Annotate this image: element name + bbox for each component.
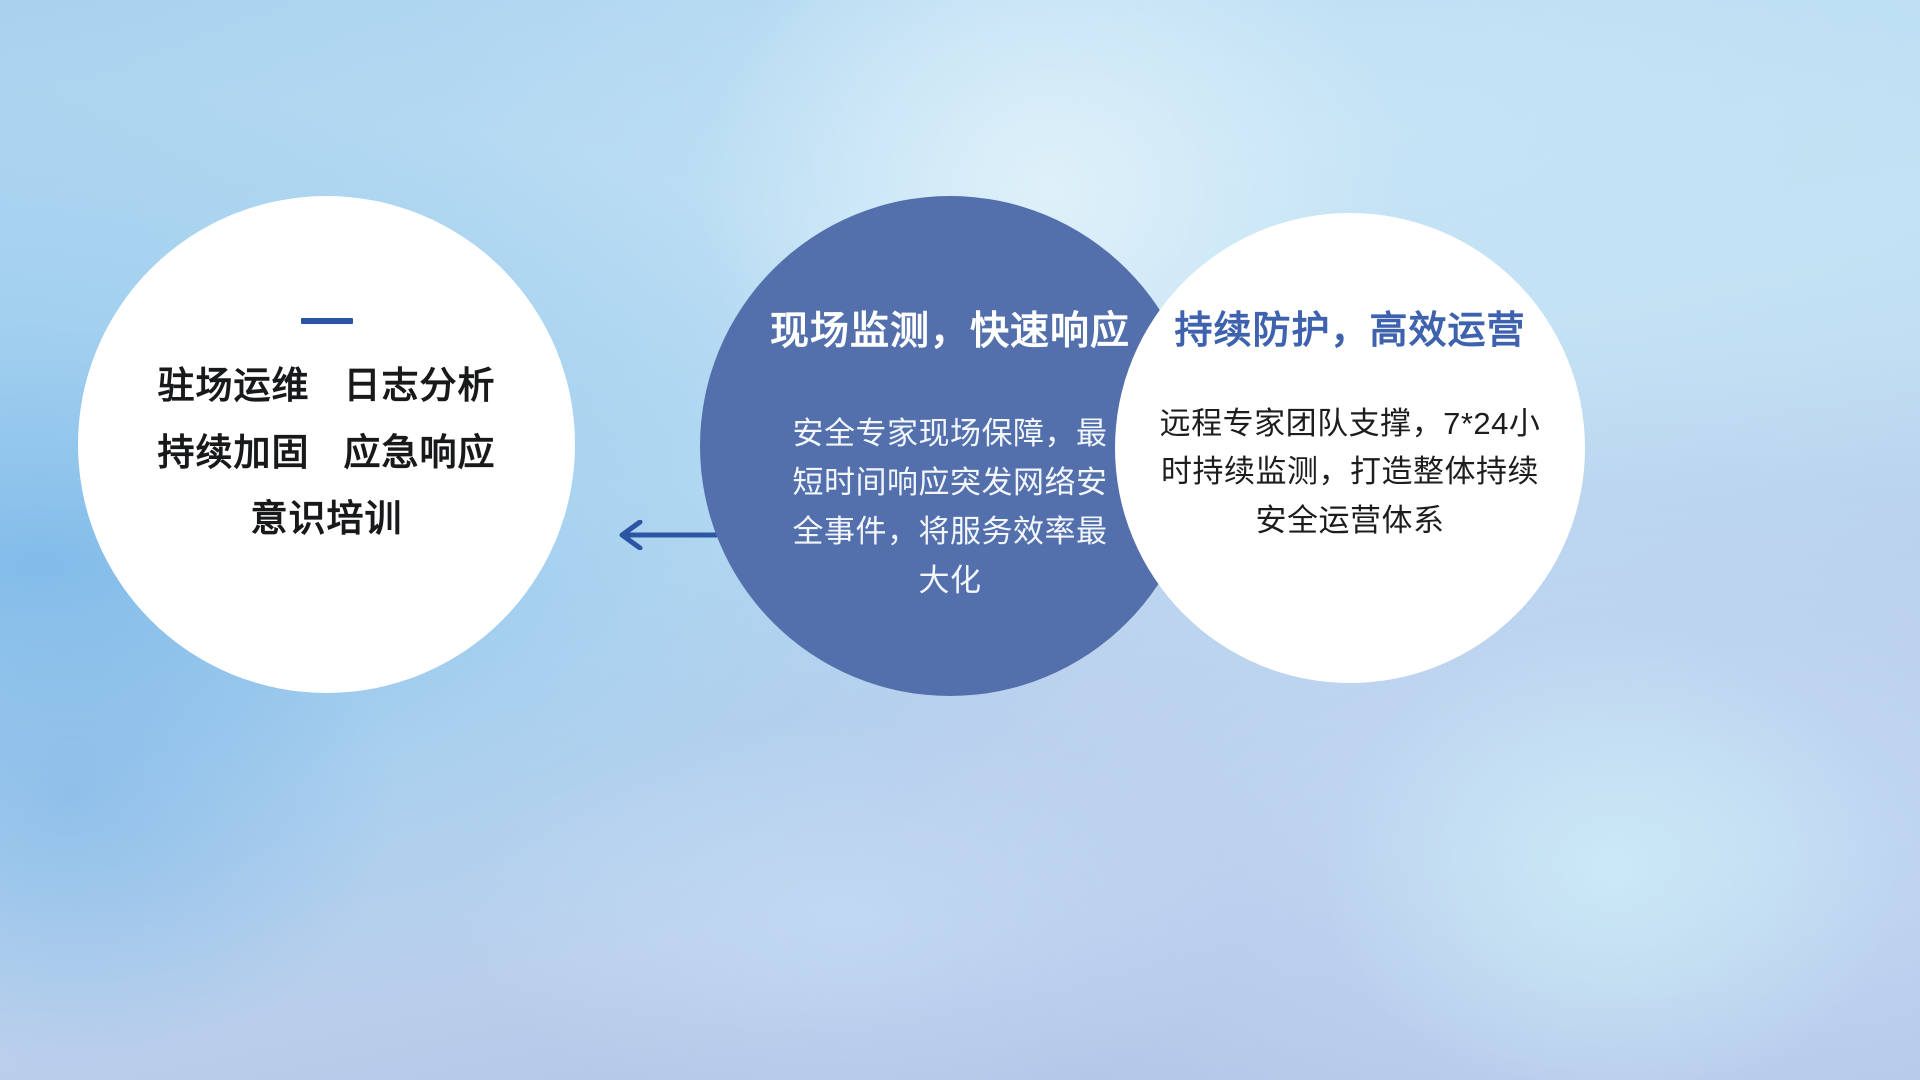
capability-tag: 应急响应	[344, 433, 496, 474]
capability-tag: 驻场运维	[158, 366, 310, 407]
onsite-monitoring-body: 安全专家现场保障，最短时间响应突发网络安全事件，将服务效率最大化	[785, 410, 1115, 606]
capability-tag-list: 驻场运维 日志分析 持续加固 应急响应 意识培训	[78, 366, 575, 566]
capability-circle-left: 驻场运维 日志分析 持续加固 应急响应 意识培训	[78, 196, 575, 693]
onsite-monitoring-heading: 现场监测，快速响应	[770, 300, 1130, 356]
capability-tag-row: 意识培训	[78, 499, 575, 540]
continuous-protection-body: 远程专家团队支撑，7*24小时持续监测，打造整体持续安全运营体系	[1146, 400, 1554, 545]
capability-tag-row: 持续加固 应急响应	[78, 433, 575, 474]
blue-dash-divider	[301, 318, 353, 324]
capability-tag: 意识培训	[251, 499, 403, 540]
continuous-protection-circle: 持续防护，高效运营 远程专家团队支撑，7*24小时持续监测，打造整体持续安全运营…	[1115, 213, 1585, 683]
capability-tag: 持续加固	[158, 433, 310, 474]
slide-canvas: 驻场运维 日志分析 持续加固 应急响应 意识培训 现场监测，快速响应 安全专家现…	[0, 0, 1920, 1080]
capability-tag: 日志分析	[344, 366, 496, 407]
background-glow-bottom	[300, 640, 1400, 1080]
capability-tag-row: 驻场运维 日志分析	[78, 366, 575, 407]
continuous-protection-heading: 持续防护，高效运营	[1174, 299, 1525, 354]
